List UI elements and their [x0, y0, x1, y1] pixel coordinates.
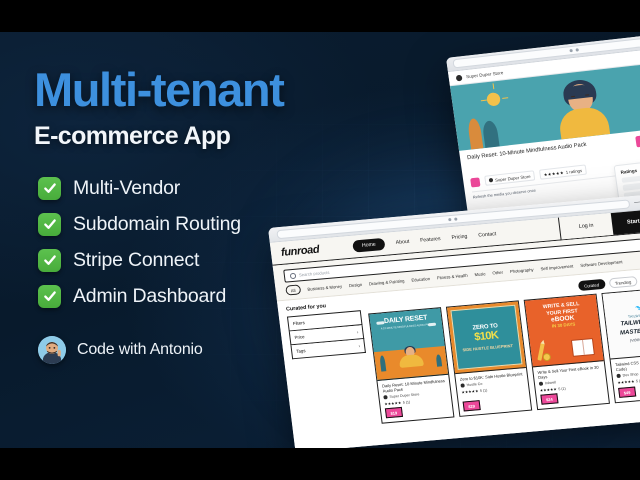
- feature-label: Admin Dashboard: [73, 285, 226, 308]
- author-byline: Code with Antonio: [38, 336, 334, 364]
- product-price: $29: [463, 401, 481, 412]
- nav-item-features[interactable]: Features: [420, 236, 441, 244]
- list-item: Subdomain Routing: [38, 213, 334, 236]
- star-icon: ★★★★★: [384, 400, 402, 406]
- author-name: Code with Antonio: [77, 341, 203, 359]
- cover-line-3: (VIDEO + CODE): [630, 336, 640, 342]
- plant-decoration: [482, 120, 500, 148]
- tab-trending[interactable]: Trending: [608, 276, 638, 288]
- star-rating-icon: ★★★★★: [543, 169, 564, 176]
- star-icon: ★★★★★: [540, 387, 558, 393]
- page-subtitle: E-commerce App: [34, 123, 334, 151]
- product-grid: DAILY RESET A 10-MINUTE MINDFULNESS AUDI…: [368, 287, 640, 424]
- category-design[interactable]: Design: [349, 282, 363, 288]
- feature-label: Subdomain Routing: [73, 213, 241, 236]
- product-price: $49: [618, 387, 636, 398]
- category-drawing-painting[interactable]: Drawing & Painting: [369, 278, 405, 286]
- feature-list: Multi-Vendor Subdomain Routing Stripe Co…: [38, 177, 334, 308]
- list-item: Stripe Connect: [38, 249, 334, 272]
- cover-line-1: TAILWIND CSS: [620, 318, 640, 329]
- sun-ray: [502, 97, 508, 99]
- category-music[interactable]: Music: [474, 271, 486, 277]
- login-button[interactable]: Log in: [558, 213, 614, 239]
- coin-icon: [542, 353, 551, 362]
- product-cover-daily-reset: DAILY RESET A 10-MINUTE MINDFULNESS AUDI…: [369, 308, 448, 381]
- nav-item-about[interactable]: About: [395, 239, 409, 246]
- book-icon: [571, 338, 595, 357]
- list-item: Admin Dashboard: [38, 285, 334, 308]
- product-cover-tailwind-masterclass: TAILWIND CSS TAILWIND CSS MASTERCLASS (V…: [603, 288, 640, 360]
- feature-label: Stripe Connect: [73, 249, 199, 272]
- store-avatar: [616, 374, 620, 378]
- product-title: Tailwind CSS Masterclass (Video + Code): [615, 357, 640, 373]
- window-controls[interactable]: — ❐ ✕: [634, 197, 640, 207]
- store-badge-label: Super Duper Store: [495, 173, 531, 182]
- star-icon: ★★★★★: [617, 379, 635, 385]
- sun-ray: [492, 83, 494, 89]
- store-logo-icon: [456, 74, 463, 81]
- list-item: Multi-Vendor: [38, 177, 334, 200]
- store-avatar: [383, 396, 387, 400]
- nav-item-contact[interactable]: Contact: [478, 231, 497, 239]
- star-icon: ★★★★★: [461, 388, 479, 394]
- category-self-improvement[interactable]: Self Improvement: [540, 263, 573, 271]
- cover-line-2: $10K: [474, 330, 499, 343]
- store-name: Super Duper Store: [466, 70, 504, 79]
- sun-ray: [481, 100, 487, 102]
- check-icon: [38, 285, 61, 308]
- product-price: $24: [540, 394, 558, 405]
- cover-brand: TAILWIND CSS: [628, 313, 640, 319]
- category-fitness-health[interactable]: Fitness & Health: [437, 272, 468, 280]
- chevron-right-icon: ›: [357, 329, 359, 334]
- chevron-right-icon: ›: [358, 343, 360, 348]
- plant-decoration: [467, 118, 483, 150]
- letterbox-bottom: [0, 448, 640, 480]
- cover-line-3: SIDE HUSTLE BLUEPRINT: [462, 343, 513, 352]
- hero-content: Multi-tenant E-commerce App Multi-Vendor…: [34, 66, 334, 364]
- product-price: $19: [385, 407, 403, 418]
- product-cover-write-sell-ebook: WRITE & SELL YOUR FIRST eBOOK IN 30 DAYS: [525, 295, 604, 368]
- start-selling-button[interactable]: Start selling: [611, 208, 640, 235]
- color-swatch[interactable]: [470, 177, 480, 187]
- ratings-title: Ratings: [620, 167, 637, 174]
- avatar-icon: [38, 336, 66, 364]
- thumbnail-canvas: Multi-tenant E-commerce App Multi-Vendor…: [0, 32, 640, 448]
- store-avatar: [539, 382, 543, 386]
- check-icon: [38, 249, 61, 272]
- product-grid-section: Curated Trending Hot & New DAILY RESET: [366, 273, 640, 448]
- product-cover-zero-to-10k: ZERO TO $10K SIDE HUSTLE BLUEPRINT: [447, 301, 526, 374]
- product-card[interactable]: ZERO TO $10K SIDE HUSTLE BLUEPRINT Zero …: [446, 300, 532, 417]
- category-other[interactable]: Other: [492, 269, 503, 275]
- nav-item-home[interactable]: Home: [352, 238, 385, 253]
- product-card[interactable]: WRITE & SELL YOUR FIRST eBOOK IN 30 DAYS: [524, 294, 610, 411]
- sun-icon: [486, 92, 501, 107]
- page-title: Multi-tenant: [34, 66, 334, 113]
- store-avatar: [460, 384, 464, 388]
- product-card[interactable]: DAILY RESET A 10-MINUTE MINDFULNESS AUDI…: [368, 307, 454, 424]
- letterbox-top: [0, 0, 640, 32]
- tab-curated[interactable]: Curated: [577, 279, 605, 291]
- tailwind-logo-icon: [633, 304, 640, 312]
- category-software-development[interactable]: Software Development: [580, 259, 623, 268]
- check-icon: [38, 213, 61, 236]
- product-cta-group: Add to cart ↻ 30-day money back guarante…: [635, 128, 640, 155]
- nav-item-pricing[interactable]: Pricing: [451, 234, 468, 241]
- feature-label: Multi-Vendor: [73, 177, 180, 200]
- person-illustration: [546, 81, 618, 141]
- rating-count: 1 ratings: [565, 167, 582, 174]
- category-photography[interactable]: Photography: [510, 266, 534, 273]
- minimize-icon[interactable]: —: [634, 199, 640, 206]
- category-education[interactable]: Education: [411, 276, 430, 283]
- screenshot-stage: Multi-tenant E-commerce App Multi-Vendor…: [0, 0, 640, 480]
- add-to-cart-button[interactable]: Add to cart: [635, 130, 640, 147]
- check-icon: [38, 177, 61, 200]
